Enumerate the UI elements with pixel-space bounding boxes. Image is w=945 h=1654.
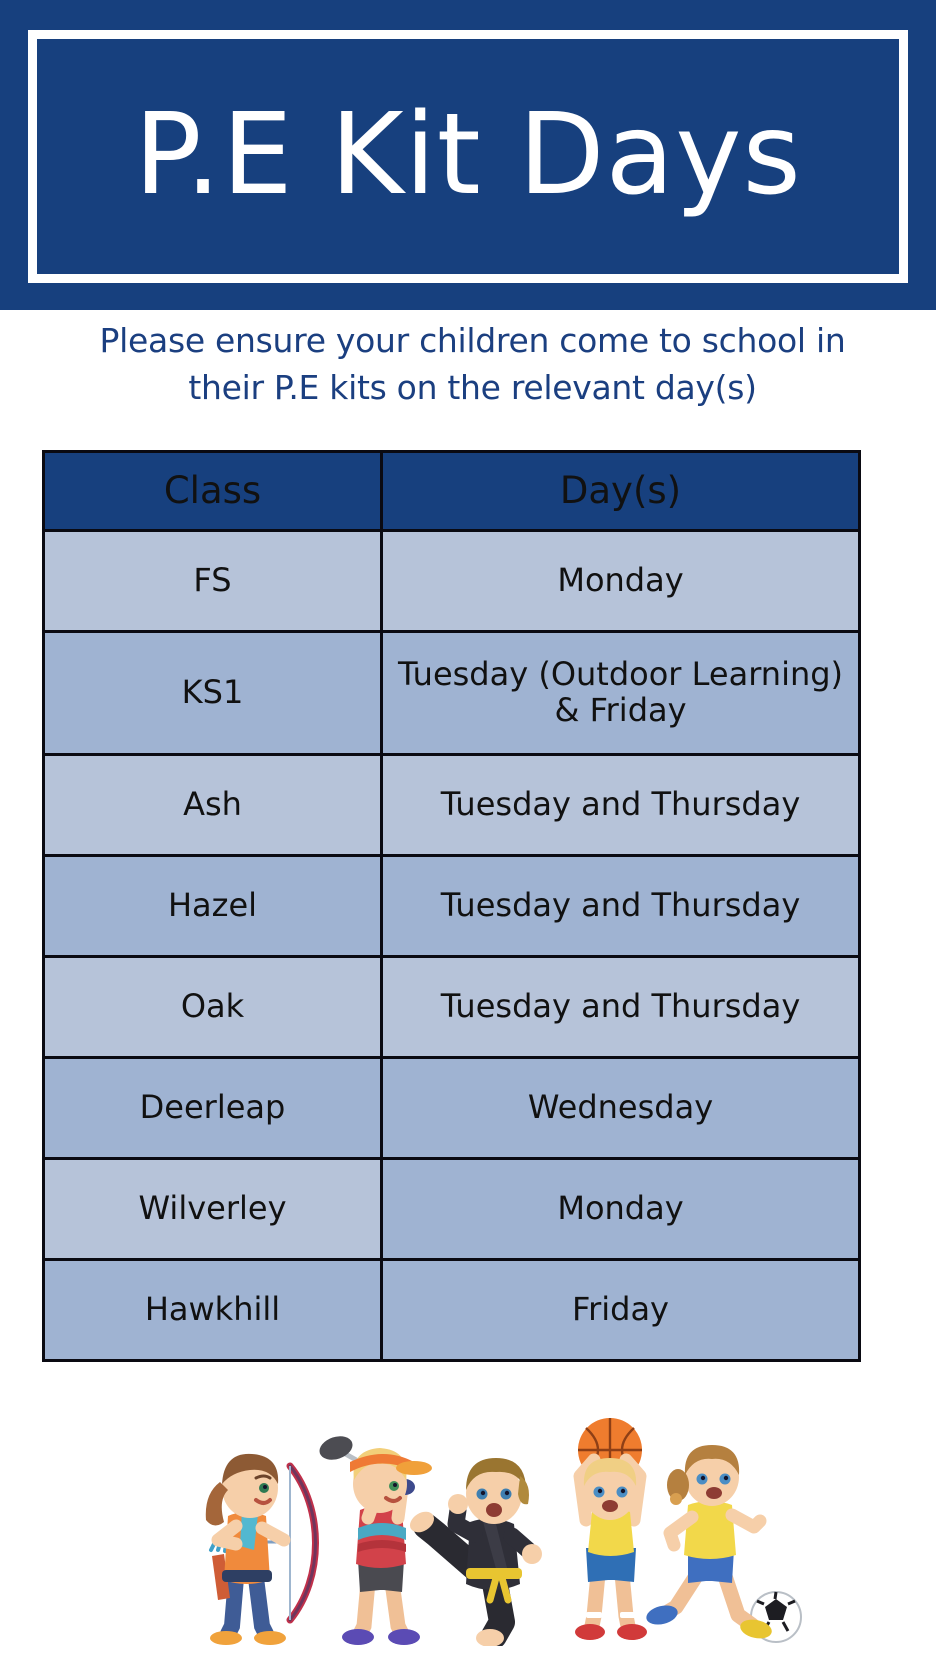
cell-days: Monday — [382, 1159, 860, 1260]
cell-class: KS1 — [44, 632, 382, 755]
table-row: Wilverley Monday — [44, 1159, 860, 1260]
cell-days: Monday — [382, 531, 860, 632]
cell-days: Tuesday and Thursday — [382, 957, 860, 1058]
cell-days: Tuesday (Outdoor Learning) & Friday — [382, 632, 860, 755]
cell-class: Hawkhill — [44, 1260, 382, 1361]
cell-days: Tuesday and Thursday — [382, 755, 860, 856]
sports-children-illustration — [0, 1396, 945, 1646]
subtitle: Please ensure your children come to scho… — [18, 318, 927, 412]
column-header-class: Class — [44, 452, 382, 531]
table-row: FS Monday — [44, 531, 860, 632]
cell-days: Wednesday — [382, 1058, 860, 1159]
page-title: P.E Kit Days — [37, 98, 899, 210]
subtitle-line-1: Please ensure your children come to scho… — [18, 318, 927, 365]
table-row: Oak Tuesday and Thursday — [44, 957, 860, 1058]
cell-class: Wilverley — [44, 1159, 382, 1260]
table-row: Ash Tuesday and Thursday — [44, 755, 860, 856]
archer-girl-icon — [178, 1438, 328, 1646]
column-header-days: Day(s) — [382, 452, 860, 531]
table-row: KS1 Tuesday (Outdoor Learning) & Friday — [44, 632, 860, 755]
karate-boy-icon — [408, 1446, 568, 1646]
footballer-girl-icon — [640, 1441, 810, 1646]
subtitle-line-2: their P.E kits on the relevant day(s) — [18, 365, 927, 412]
cell-class: Hazel — [44, 856, 382, 957]
table-row: Hawkhill Friday — [44, 1260, 860, 1361]
cell-days: Friday — [382, 1260, 860, 1361]
header-banner: P.E Kit Days — [0, 0, 936, 310]
pe-kit-days-table: Class Day(s) FS Monday KS1 Tuesday (Outd… — [42, 450, 861, 1362]
banner-white-frame: P.E Kit Days — [28, 30, 908, 283]
table-row: Deerleap Wednesday — [44, 1058, 860, 1159]
table-row: Hazel Tuesday and Thursday — [44, 856, 860, 957]
cell-class: Deerleap — [44, 1058, 382, 1159]
cell-class: Ash — [44, 755, 382, 856]
cell-class: FS — [44, 531, 382, 632]
cell-class: Oak — [44, 957, 382, 1058]
cell-days: Tuesday and Thursday — [382, 856, 860, 957]
table-header-row: Class Day(s) — [44, 452, 860, 531]
